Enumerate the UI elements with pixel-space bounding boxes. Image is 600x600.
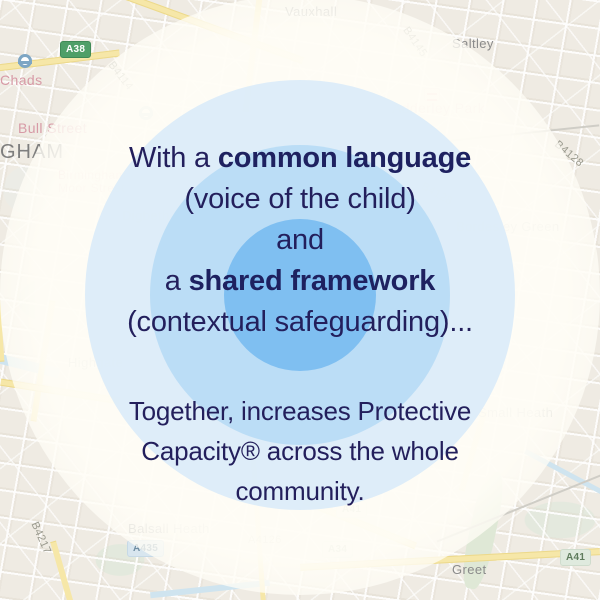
primary-emphasis: common language <box>218 142 471 174</box>
primary-line: (voice of the child) <box>0 179 600 220</box>
primary-line: and <box>0 220 600 261</box>
infographic-canvas: VauxhallSaltleyAdderley ParkChadsBull St… <box>0 0 600 600</box>
primary-text: and <box>276 224 324 256</box>
secondary-text: community. <box>236 476 365 506</box>
primary-text: (contextual safeguarding)... <box>127 306 473 338</box>
secondary-line: community. <box>0 471 600 511</box>
primary-line: With a common language <box>0 138 600 179</box>
primary-message: With a common language(voice of the chil… <box>0 138 600 343</box>
primary-text: (voice of the child) <box>184 183 415 215</box>
secondary-text: Together, increases Protective <box>129 396 471 426</box>
secondary-message: Together, increases ProtectiveCapacity® … <box>0 391 600 511</box>
message-block: With a common language(voice of the chil… <box>0 0 600 600</box>
primary-emphasis: shared framework <box>189 265 436 297</box>
secondary-text: Capacity® across the whole <box>141 436 458 466</box>
primary-line: a shared framework <box>0 261 600 302</box>
primary-text: With a <box>129 142 218 174</box>
secondary-line: Together, increases Protective <box>0 391 600 431</box>
primary-line: (contextual safeguarding)... <box>0 302 600 343</box>
secondary-line: Capacity® across the whole <box>0 431 600 471</box>
primary-text: a <box>165 265 189 297</box>
